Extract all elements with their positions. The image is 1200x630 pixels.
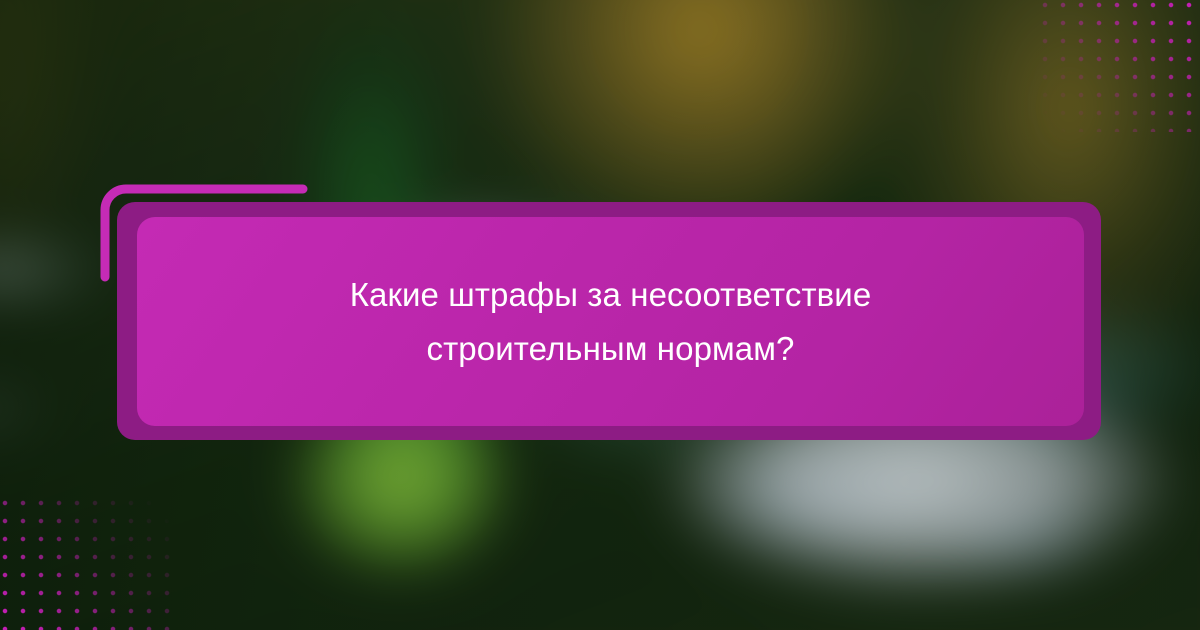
page-title: Какие штрафы за несоответствие строитель… [241, 268, 981, 375]
question-card: Какие штрафы за несоответствие строитель… [137, 217, 1084, 426]
social-card-canvas: Какие штрафы за несоответствие строитель… [0, 0, 1200, 630]
